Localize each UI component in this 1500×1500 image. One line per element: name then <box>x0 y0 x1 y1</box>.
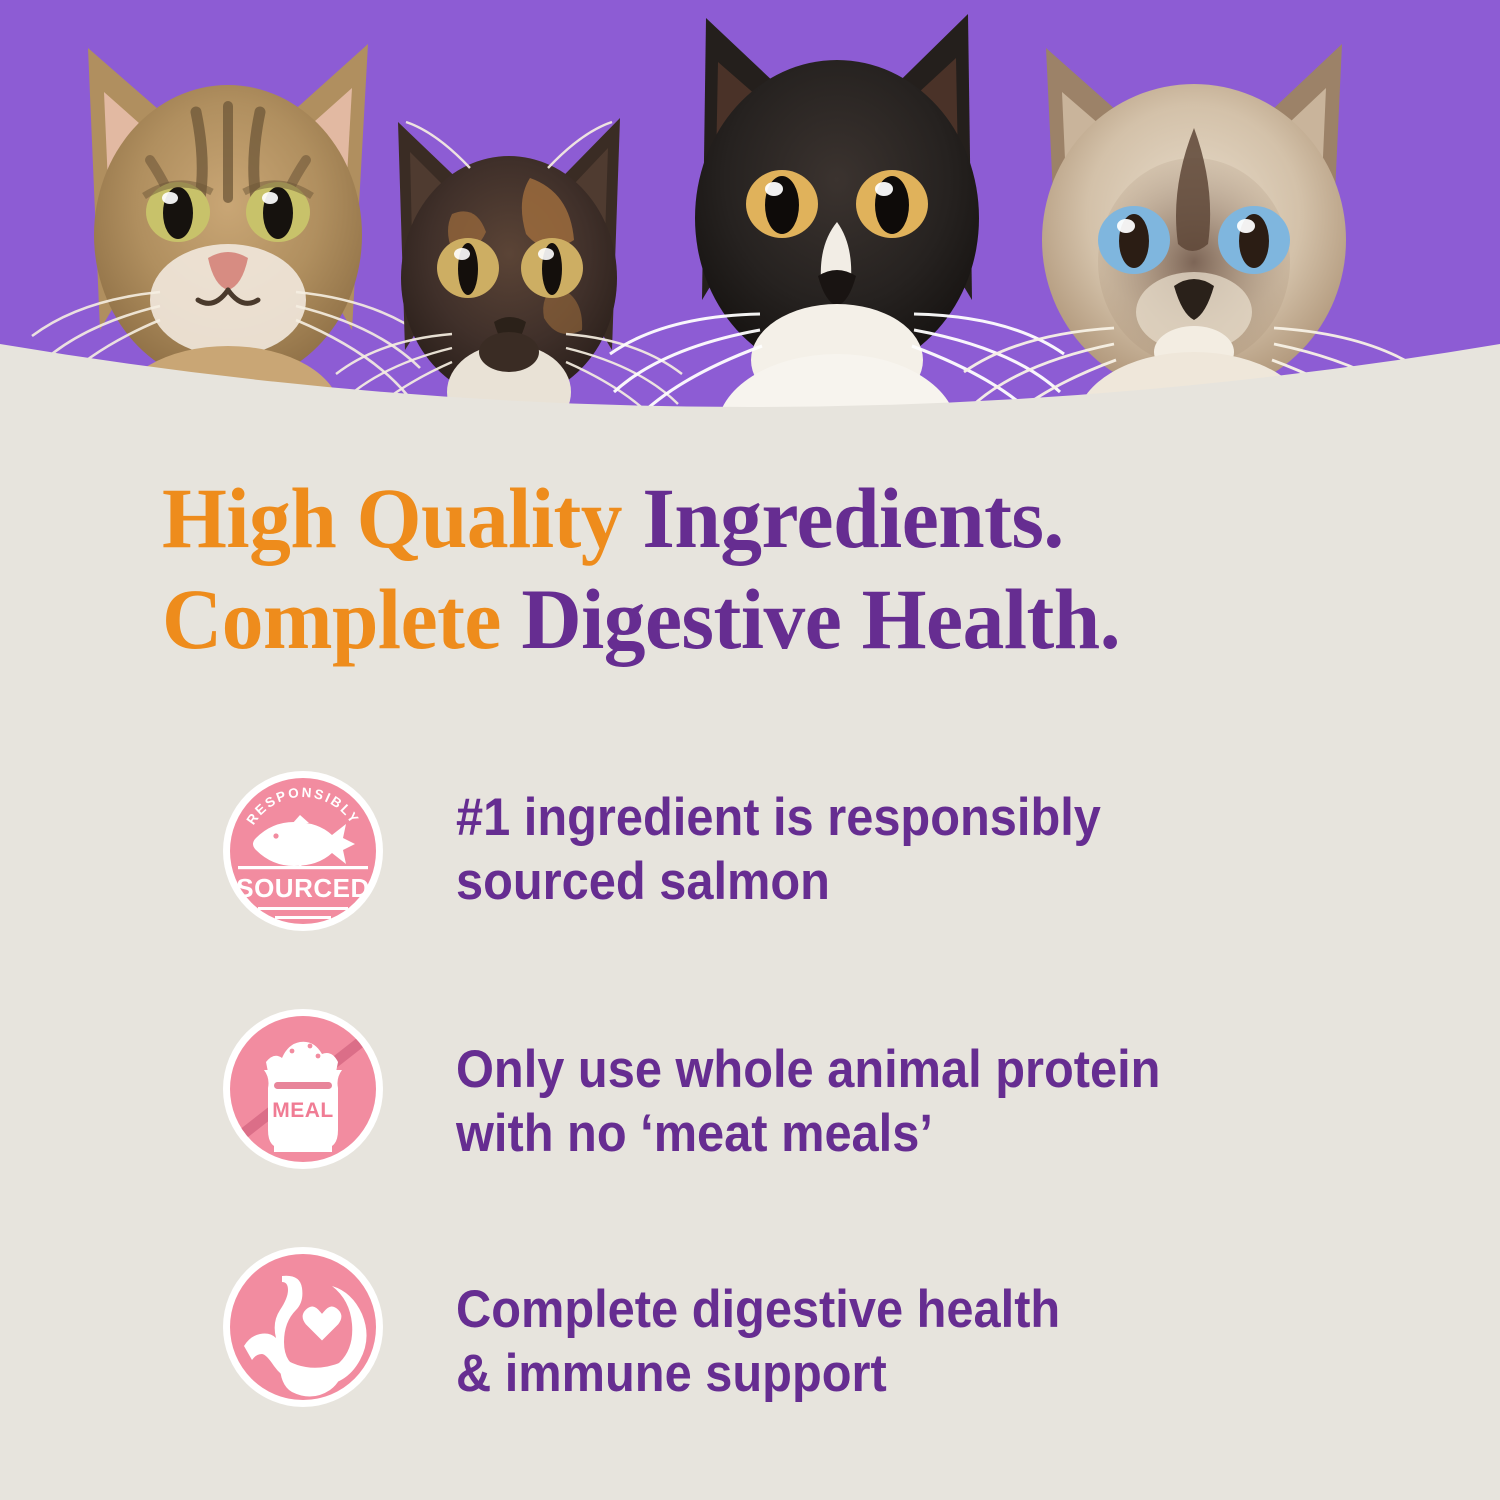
feature-list: RESPONSIBLY SOURCED #1 ingredient is re <box>218 762 1408 1476</box>
feature-item: RESPONSIBLY SOURCED #1 ingredient is re <box>218 762 1408 1000</box>
headline-block: High Quality Ingredients. Complete Diges… <box>162 468 1392 669</box>
stomach-heart-digestive-health-icon <box>218 1242 388 1412</box>
marketing-infographic: High Quality Ingredients. Complete Diges… <box>0 0 1500 1500</box>
responsibly-sourced-fish-badge-icon: RESPONSIBLY SOURCED <box>218 766 388 936</box>
hero-banner <box>0 0 1500 430</box>
feature-item: MEAL Only use whole animal protein with … <box>218 1000 1408 1238</box>
headline-line-2: Complete Digestive Health. <box>162 569 1355 670</box>
feature-item: Complete digestive health & immune suppo… <box>218 1238 1408 1476</box>
feature-text: #1 ingredient is responsibly sourced sal… <box>456 762 1101 913</box>
headline-line2-orange: Complete <box>162 571 521 667</box>
badge-main-text: SOURCED <box>236 873 370 903</box>
feature-text: Complete digestive health & immune suppo… <box>456 1238 1060 1405</box>
meal-bag-icon <box>264 1042 342 1152</box>
headline-line-1: High Quality Ingredients. <box>162 468 1355 569</box>
headline-line1-purple: Ingredients. <box>642 470 1063 566</box>
meal-bag-label: MEAL <box>272 1099 334 1122</box>
headline-line1-orange: High Quality <box>162 470 642 566</box>
no-meat-meal-bag-icon: MEAL <box>218 1004 388 1174</box>
headline-line2-purple: Digestive Health. <box>521 571 1120 667</box>
feature-text: Only use whole animal protein with no ‘m… <box>456 1000 1160 1165</box>
cats-illustration <box>0 0 1500 430</box>
